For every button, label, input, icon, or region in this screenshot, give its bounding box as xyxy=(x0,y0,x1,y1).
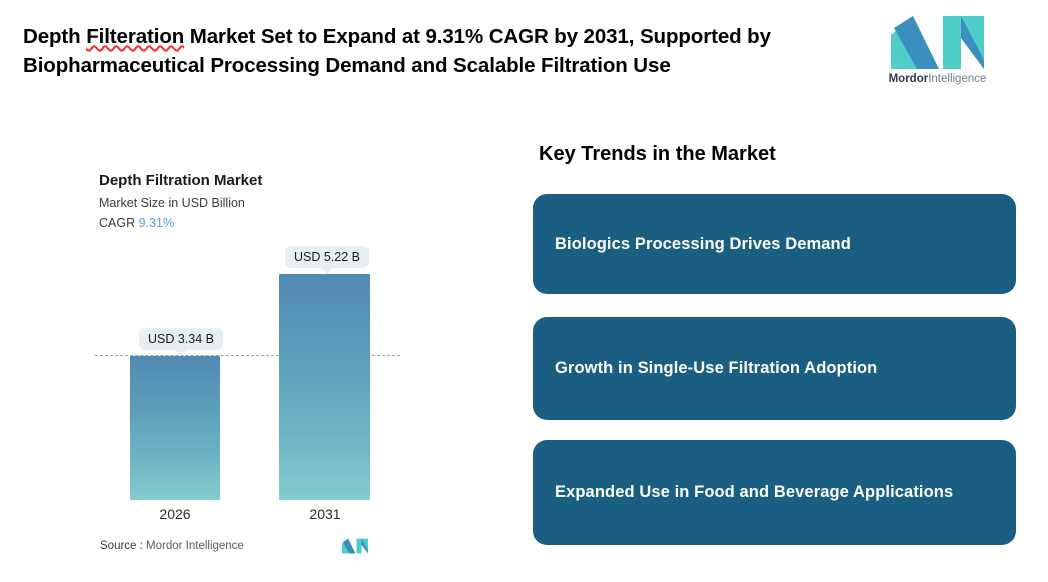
trend-card-1-label: Biologics Processing Drives Demand xyxy=(555,232,851,257)
chart-panel: Depth Filtration Market Market Size in U… xyxy=(0,150,500,570)
page-title: Depth Filteration Market Set to Expand a… xyxy=(23,22,843,80)
mordor-m-logo-icon-small xyxy=(342,538,368,554)
trend-card-2-label: Growth in Single-Use Filtration Adoption xyxy=(555,356,877,381)
chart-source: Source : Mordor Intelligence xyxy=(100,540,244,552)
bar-2026[interactable] xyxy=(130,356,220,500)
source-label: Source : xyxy=(100,540,143,552)
brand-logo: MordorIntelligence xyxy=(880,16,995,85)
trend-card-3-label: Expanded Use in Food and Beverage Applic… xyxy=(555,480,953,505)
mordor-m-logo-icon xyxy=(891,16,984,69)
bar-2031[interactable] xyxy=(279,274,370,500)
brand-word-mordor: Mordor xyxy=(889,73,929,85)
infographic-page: Depth Filteration Market Set to Expand a… xyxy=(0,0,1048,582)
key-trends-heading: Key Trends in the Market xyxy=(539,143,776,166)
bar-value-tooltip-2026: USD 3.34 B xyxy=(139,328,223,350)
trend-card-3[interactable]: Expanded Use in Food and Beverage Applic… xyxy=(533,440,1016,545)
trend-card-1[interactable]: Biologics Processing Drives Demand xyxy=(533,194,1016,294)
trend-card-2[interactable]: Growth in Single-Use Filtration Adoption xyxy=(533,317,1016,420)
bar-value-tooltip-2031: USD 5.22 B xyxy=(285,246,369,268)
source-value: Mordor Intelligence xyxy=(146,540,244,552)
headline-misspelled-word: Filteration xyxy=(86,25,184,48)
bar-chart-plot: USD 3.34 B USD 5.22 B 2026 2031 xyxy=(0,150,500,570)
brand-word-intelligence: Intelligence xyxy=(928,73,986,85)
headline-part-1: Depth xyxy=(23,25,86,48)
x-axis-label-2026: 2026 xyxy=(115,506,235,522)
brand-wordmark: MordorIntelligence xyxy=(880,73,995,85)
x-axis-label-2031: 2031 xyxy=(265,506,385,522)
